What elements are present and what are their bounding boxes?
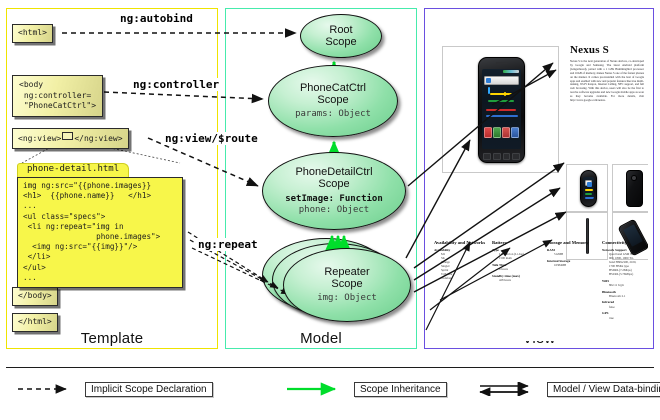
note-tab: phone-detail.html — [17, 163, 129, 177]
legend-green-arrow-icon — [285, 382, 347, 396]
label-ng-controller: ng:controller — [131, 78, 221, 91]
legend-item-model-view-data-binding: Model / View Data-binding — [478, 381, 660, 397]
legend-dashed-arrow-icon — [16, 382, 78, 396]
legend-label: Implicit Scope Declaration — [85, 382, 213, 397]
label-ng-autobind: ng:autobind — [118, 12, 195, 25]
legend-label: Model / View Data-binding — [547, 382, 660, 397]
diagram-canvas: Template Model View — [0, 0, 660, 420]
legend-label: Scope Inheritance — [354, 382, 447, 397]
legend-item-implicit-scope-declaration: Implicit Scope Declaration — [16, 381, 213, 397]
template-note-phone-detail: phone-detail.html img ng:src="{{phone.im… — [17, 163, 183, 288]
label-ng-view-route: ng:view/$route — [163, 132, 260, 145]
label-ng-repeat: ng:repeat — [196, 238, 260, 251]
legend-double-arrow-icon — [478, 382, 540, 396]
note-code: img ng:src="{{phone.images}} <h1> {{phon… — [17, 177, 183, 288]
note-title: phone-detail.html — [27, 164, 119, 174]
legend-item-scope-inheritance: Scope Inheritance — [285, 381, 447, 397]
